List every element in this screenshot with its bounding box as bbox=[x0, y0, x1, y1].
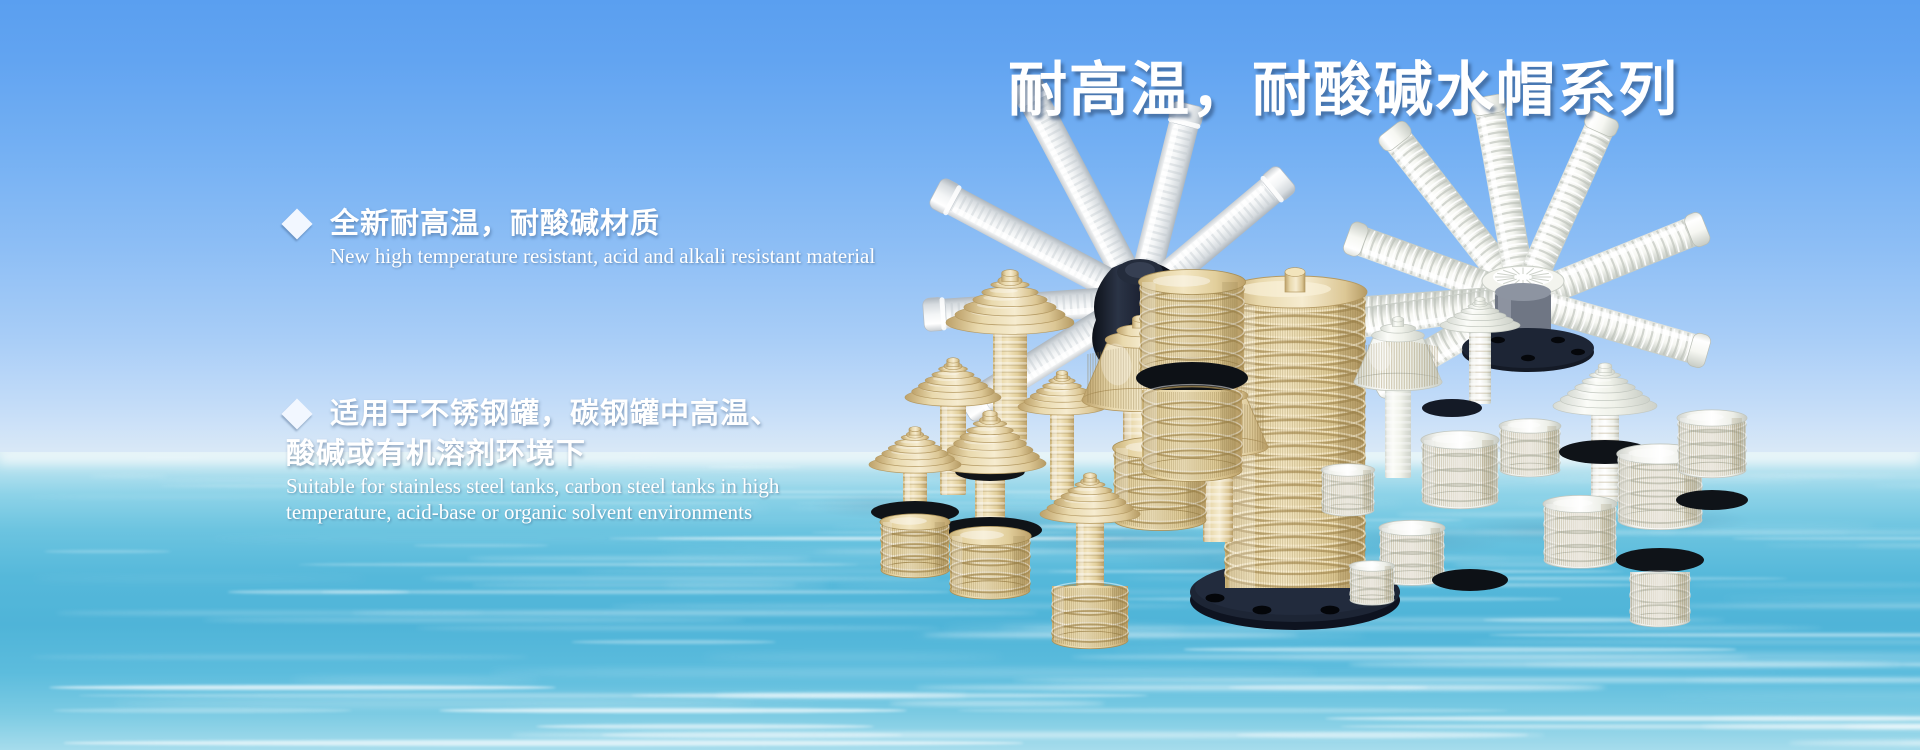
diamond-bullet-icon bbox=[281, 398, 312, 429]
banner-root: 耐高温，耐酸碱水帽系列 全新耐高温，耐酸碱材质 New high tempera… bbox=[0, 0, 1920, 750]
feature-2-cn-line2: 酸碱或有机溶剂环境下 bbox=[286, 433, 780, 473]
feature-2-en-line1: Suitable for stainless steel tanks, carb… bbox=[286, 473, 780, 499]
feature-1-cn: 全新耐高温，耐酸碱材质 bbox=[330, 203, 986, 243]
feature-list: 全新耐高温，耐酸碱材质 New high temperature resista… bbox=[286, 203, 986, 269]
feature-1-en: New high temperature resistant, acid and… bbox=[330, 243, 986, 269]
page-title: 耐高温，耐酸碱水帽系列 bbox=[1008, 59, 1679, 121]
feature-item-1: 全新耐高温，耐酸碱材质 New high temperature resista… bbox=[286, 203, 986, 269]
feature-2-cn-line1: 适用于不锈钢罐，碳钢罐中高温、 bbox=[330, 393, 780, 433]
diamond-bullet-icon bbox=[281, 208, 312, 239]
feature-2-en-line2: temperature, acid-base or organic solven… bbox=[286, 499, 780, 525]
feature-item-2: 适用于不锈钢罐，碳钢罐中高温、 酸碱或有机溶剂环境下 Suitable for … bbox=[286, 393, 780, 525]
